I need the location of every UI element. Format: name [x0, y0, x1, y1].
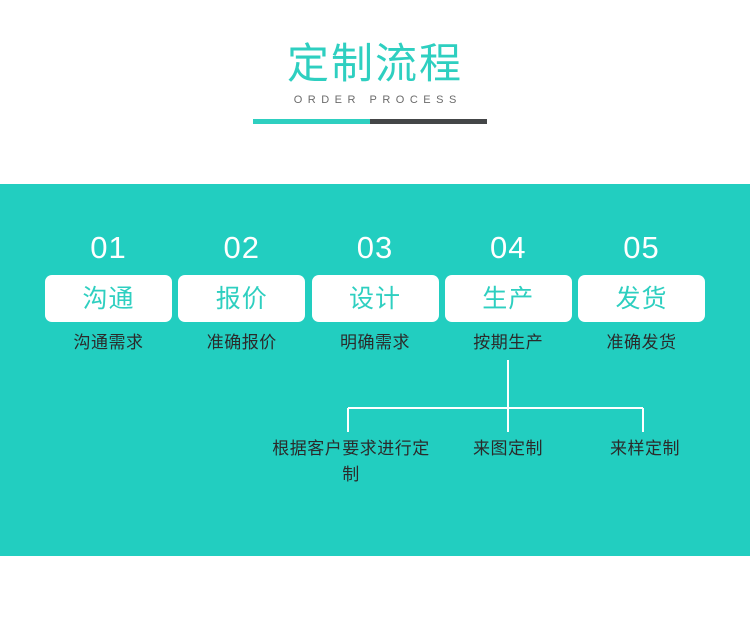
step-number: 02: [224, 230, 260, 266]
process-panel: 01 沟通 沟通需求 02 报价 准确报价 03 设计 明确需求 04 生产: [0, 184, 750, 556]
step-name-label: 沟通: [82, 285, 134, 313]
step-caption: 准确发货: [607, 332, 677, 354]
step-number: 01: [90, 230, 126, 266]
process-step-list: 01 沟通 沟通需求 02 报价 准确报价 03 设计 明确需求 04 生产: [45, 230, 705, 354]
step-name-box[interactable]: 沟通: [45, 275, 172, 322]
step-caption: 明确需求: [340, 332, 410, 354]
step-name-label: 报价: [216, 285, 268, 313]
branch-label-custom-by-sample: 来样定制: [580, 436, 710, 462]
process-step-02[interactable]: 02 报价 准确报价: [178, 230, 305, 354]
step-caption: 沟通需求: [74, 332, 144, 354]
header-divider: [253, 119, 487, 124]
step-name-box[interactable]: 设计: [312, 275, 439, 322]
branch-label-custom-by-requirement: 根据客户要求进行定制: [268, 436, 434, 488]
process-step-05[interactable]: 05 发货 准确发货: [578, 230, 705, 354]
step-name-label: 发货: [615, 285, 667, 313]
step-number: 05: [623, 230, 659, 266]
step-number: 04: [490, 230, 526, 266]
header-divider-dark-segment: [370, 119, 487, 124]
page-title: 定制流程: [0, 40, 750, 88]
step-name-box[interactable]: 报价: [178, 275, 305, 322]
step-name-label: 设计: [349, 285, 401, 313]
step-name-box[interactable]: 发货: [578, 275, 705, 322]
step-caption: 准确报价: [207, 332, 277, 354]
step-name-label: 生产: [482, 285, 534, 313]
step-name-box[interactable]: 生产: [445, 275, 572, 322]
process-step-03[interactable]: 03 设计 明确需求: [312, 230, 439, 354]
step-number: 03: [357, 230, 393, 266]
step-caption: 按期生产: [473, 332, 543, 354]
header-divider-accent-segment: [253, 119, 370, 124]
process-step-04[interactable]: 04 生产 按期生产: [445, 230, 572, 354]
process-step-01[interactable]: 01 沟通 沟通需求: [45, 230, 172, 354]
page-header: 定制流程 ORDER PROCESS: [0, 0, 750, 184]
branch-label-custom-by-drawing: 来图定制: [443, 436, 573, 462]
page-subtitle: ORDER PROCESS: [0, 93, 750, 107]
branch-label-list: 根据客户要求进行定制 来图定制 来样定制: [0, 436, 750, 516]
